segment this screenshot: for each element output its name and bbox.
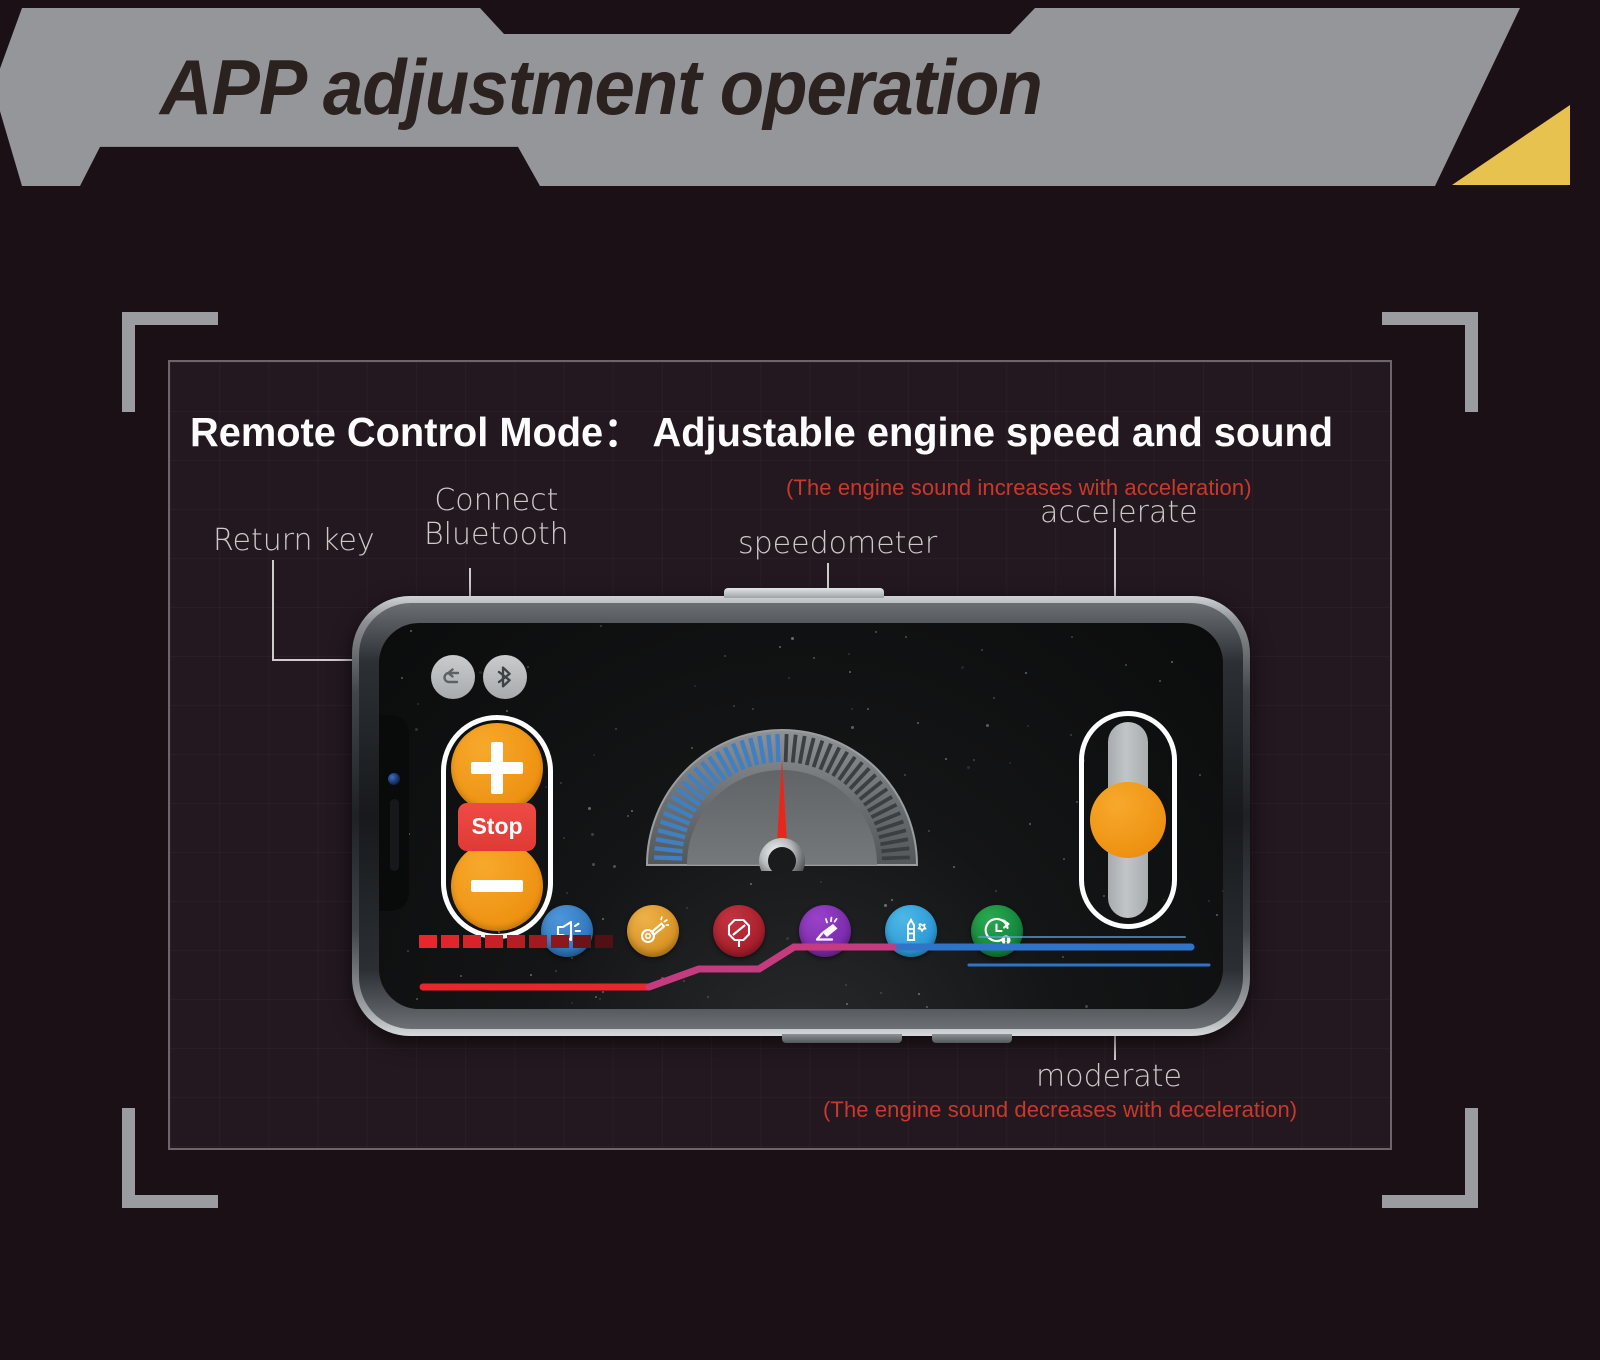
bluetooth-button[interactable] [483, 655, 527, 699]
label-connect-line1: Connect [424, 484, 569, 518]
stop-sign-icon-button[interactable] [713, 905, 765, 957]
siren-icon [637, 915, 669, 947]
phone-power-button[interactable] [724, 588, 884, 598]
stop-sign-icon [723, 915, 755, 947]
return-icon [440, 664, 466, 690]
stop-button[interactable]: Stop [458, 803, 536, 850]
phone-notch [379, 715, 409, 911]
leader-line-return-vertical [272, 560, 274, 660]
brake-pedal-icon [809, 915, 841, 947]
phone-volume-up-button[interactable] [782, 1034, 902, 1043]
horn-icon [551, 915, 583, 947]
slide-canvas: APP adjustment operation Remote Control … [0, 0, 1600, 1360]
header-accent-triangle [1452, 105, 1570, 185]
label-return-key: Return key [213, 524, 375, 558]
label-speedometer: speedometer [738, 527, 937, 561]
header-banner: APP adjustment operation [0, 0, 1600, 200]
decrease-speed-button[interactable] [451, 841, 543, 931]
increase-speed-button[interactable] [451, 723, 543, 813]
earpiece-speaker [390, 799, 399, 871]
horn-icon-button[interactable] [541, 905, 593, 957]
timer-icon [981, 915, 1013, 947]
phone-bezel: Stop [359, 603, 1243, 1029]
speed-control-cluster: Stop [441, 715, 553, 939]
app-screen: Stop [379, 623, 1223, 1009]
throttle-slider-thumb[interactable] [1090, 782, 1166, 858]
page-title: APP adjustment operation [160, 42, 1042, 133]
label-connect-bluetooth: Connect Bluetooth [424, 484, 569, 552]
speedometer-gauge [641, 719, 923, 871]
label-accelerate: accelerate [1040, 496, 1198, 530]
phone-mockup: Stop [352, 596, 1250, 1036]
brake-pedal-icon-button[interactable] [799, 905, 851, 957]
return-button[interactable] [431, 655, 475, 699]
bluetooth-icon [492, 664, 518, 690]
label-connect-line2: Bluetooth [424, 518, 569, 552]
corner-bracket-top-right [1382, 312, 1478, 412]
beacon-icon [895, 915, 927, 947]
note-moderate: (The engine sound decreases with deceler… [823, 1097, 1297, 1123]
phone-volume-down-button[interactable] [932, 1034, 1012, 1043]
corner-bracket-bottom-right [1382, 1108, 1478, 1208]
plus-icon-vertical [491, 742, 503, 794]
beacon-icon-button[interactable] [885, 905, 937, 957]
timer-icon-button[interactable] [971, 905, 1023, 957]
panel-title: Remote Control Mode： Adjustable engine s… [190, 398, 1333, 458]
phone-frame: Stop [352, 596, 1250, 1036]
siren-icon-button[interactable] [627, 905, 679, 957]
function-icon-row [541, 905, 1023, 957]
label-moderate: moderate [1036, 1060, 1182, 1094]
minus-icon [471, 880, 523, 892]
throttle-slider[interactable] [1079, 711, 1177, 929]
front-camera-icon [388, 773, 400, 785]
